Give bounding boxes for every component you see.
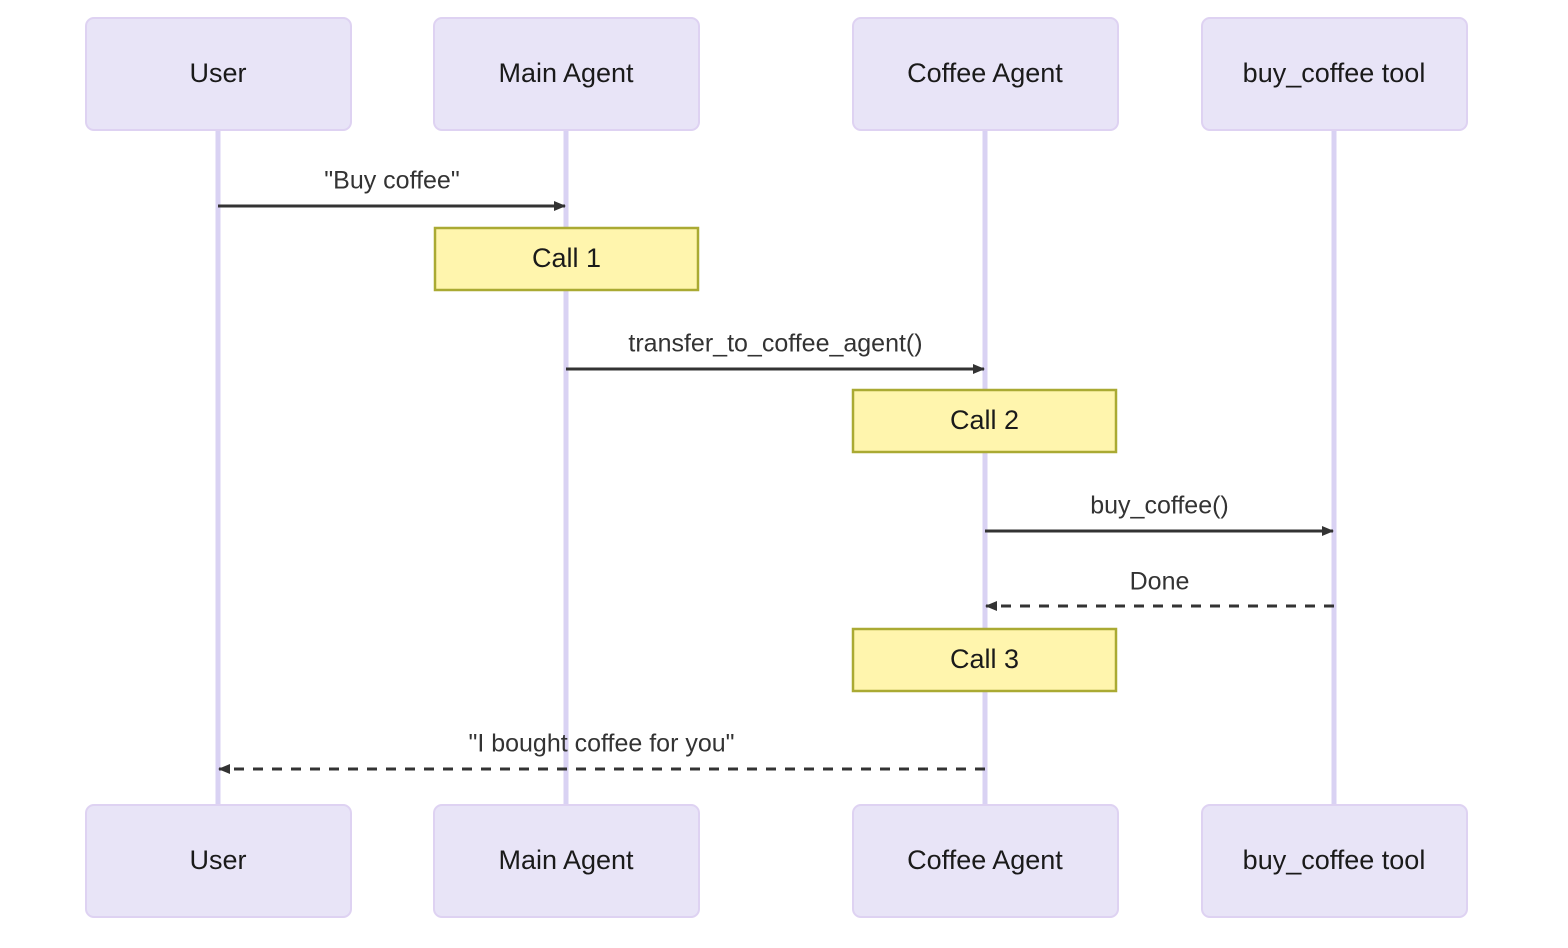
message-label: "I bought coffee for you"	[468, 730, 734, 758]
participant-label: Main Agent	[498, 58, 634, 88]
participant-label: buy_coffee tool	[1243, 845, 1426, 875]
participant-label: buy_coffee tool	[1243, 58, 1426, 88]
message-label: buy_coffee()	[1090, 492, 1229, 520]
participant-label: User	[189, 58, 246, 88]
participant-buy_coffee_tool-bottom[interactable]: buy_coffee tool	[1202, 805, 1467, 917]
actor-boxes-top: UserMain AgentCoffee Agentbuy_coffee too…	[86, 18, 1467, 130]
message-msg-5[interactable]: "I bought coffee for you"	[219, 730, 985, 769]
message-label: Done	[1130, 568, 1190, 596]
participant-label: Coffee Agent	[907, 845, 1063, 875]
note-label: Call 3	[950, 644, 1019, 674]
participant-coffee_agent-bottom[interactable]: Coffee Agent	[853, 805, 1118, 917]
message-msg-4[interactable]: Done	[986, 568, 1334, 606]
participant-user-top[interactable]: User	[86, 18, 351, 130]
note-call-3[interactable]: Call 3	[853, 629, 1116, 691]
message-label: transfer_to_coffee_agent()	[628, 330, 922, 358]
note-call-2[interactable]: Call 2	[853, 390, 1116, 452]
participant-label: Main Agent	[498, 845, 634, 875]
participant-buy_coffee_tool-top[interactable]: buy_coffee tool	[1202, 18, 1467, 130]
note-call-1[interactable]: Call 1	[435, 228, 698, 290]
note-label: Call 1	[532, 243, 601, 273]
participant-coffee_agent-top[interactable]: Coffee Agent	[853, 18, 1118, 130]
notes-group: Call 1Call 2Call 3	[435, 228, 1116, 691]
participant-main_agent-top[interactable]: Main Agent	[434, 18, 699, 130]
lifelines-group	[218, 130, 1334, 805]
message-msg-2[interactable]: transfer_to_coffee_agent()	[566, 330, 984, 369]
message-label: "Buy coffee"	[324, 167, 459, 195]
message-msg-3[interactable]: buy_coffee()	[985, 492, 1333, 531]
messages-group: "Buy coffee"transfer_to_coffee_agent()bu…	[218, 167, 1334, 769]
participant-user-bottom[interactable]: User	[86, 805, 351, 917]
sequence-diagram-canvas: Call 1Call 2Call 3 "Buy coffee"transfer_…	[0, 0, 1568, 948]
message-msg-1[interactable]: "Buy coffee"	[218, 167, 565, 206]
participant-main_agent-bottom[interactable]: Main Agent	[434, 805, 699, 917]
participant-label: User	[189, 845, 246, 875]
note-label: Call 2	[950, 405, 1019, 435]
actor-boxes-bottom: UserMain AgentCoffee Agentbuy_coffee too…	[86, 805, 1467, 917]
participant-label: Coffee Agent	[907, 58, 1063, 88]
sequence-diagram-svg: Call 1Call 2Call 3 "Buy coffee"transfer_…	[0, 0, 1568, 948]
